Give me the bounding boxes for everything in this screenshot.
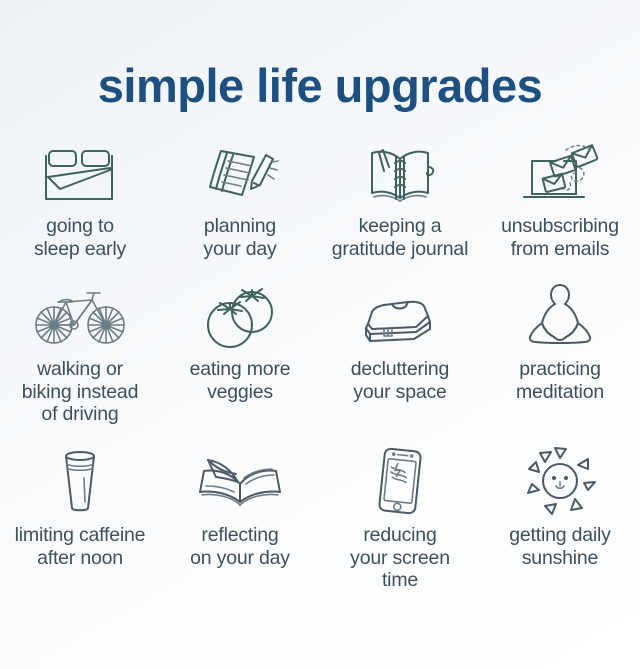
grid-item-label: decluttering your space bbox=[351, 358, 449, 403]
bicycle-icon bbox=[2, 278, 158, 354]
open-book-icon bbox=[162, 442, 318, 520]
grid-item-screen-time[interactable]: reducing your screen time bbox=[320, 442, 480, 592]
grid-item-label: limiting caffeine after noon bbox=[15, 524, 146, 569]
infographic-page: simple life upgrades goin bbox=[0, 0, 640, 669]
bed-icon bbox=[2, 135, 158, 211]
grid-item-meditation[interactable]: practicing meditation bbox=[480, 278, 640, 426]
grid-item-label: keeping a gratitude journal bbox=[332, 215, 468, 260]
notepad-pen-icon bbox=[162, 135, 318, 211]
grid-item-label: planning your day bbox=[203, 215, 276, 260]
grid-item-sleep-early[interactable]: going to sleep early bbox=[0, 135, 160, 260]
grid-row: going to sleep early bbox=[0, 135, 640, 260]
upgrades-grid: going to sleep early bbox=[0, 135, 640, 592]
folded-clothes-icon bbox=[322, 278, 478, 354]
grid-item-label: practicing meditation bbox=[516, 358, 604, 403]
smartphone-icon bbox=[322, 442, 478, 520]
grid-item-label: walking or biking instead of driving bbox=[22, 358, 138, 426]
tomatoes-icon bbox=[162, 278, 318, 354]
grid-item-label: eating more veggies bbox=[190, 358, 291, 403]
laptop-email-icon bbox=[482, 135, 638, 211]
meditation-icon bbox=[482, 278, 638, 354]
grid-item-label: reducing your screen time bbox=[350, 524, 450, 592]
grid-item-gratitude-journal[interactable]: keeping a gratitude journal bbox=[320, 135, 480, 260]
grid-item-decluttering[interactable]: decluttering your space bbox=[320, 278, 480, 426]
grid-item-daily-sunshine[interactable]: getting daily sunshine bbox=[480, 442, 640, 592]
grid-item-eating-veggies[interactable]: eating more veggies bbox=[160, 278, 320, 426]
grid-item-label: getting daily sunshine bbox=[509, 524, 610, 569]
grid-row: walking or biking instead of driving eat… bbox=[0, 278, 640, 426]
page-title: simple life upgrades bbox=[98, 62, 542, 109]
grid-item-label: reflecting on your day bbox=[190, 524, 290, 569]
sun-face-icon bbox=[482, 442, 638, 520]
grid-item-planning-day[interactable]: planning your day bbox=[160, 135, 320, 260]
grid-item-limiting-caffeine[interactable]: limiting caffeine after noon bbox=[0, 442, 160, 592]
grid-row: limiting caffeine after noon bbox=[0, 442, 640, 592]
journal-icon bbox=[322, 135, 478, 211]
grid-item-reflecting[interactable]: reflecting on your day bbox=[160, 442, 320, 592]
grid-item-unsubscribing[interactable]: unsubscribing from emails bbox=[480, 135, 640, 260]
grid-item-label: going to sleep early bbox=[34, 215, 126, 260]
grid-item-label: unsubscribing from emails bbox=[501, 215, 619, 260]
water-glass-icon bbox=[2, 442, 158, 520]
grid-item-walking-biking[interactable]: walking or biking instead of driving bbox=[0, 278, 160, 426]
